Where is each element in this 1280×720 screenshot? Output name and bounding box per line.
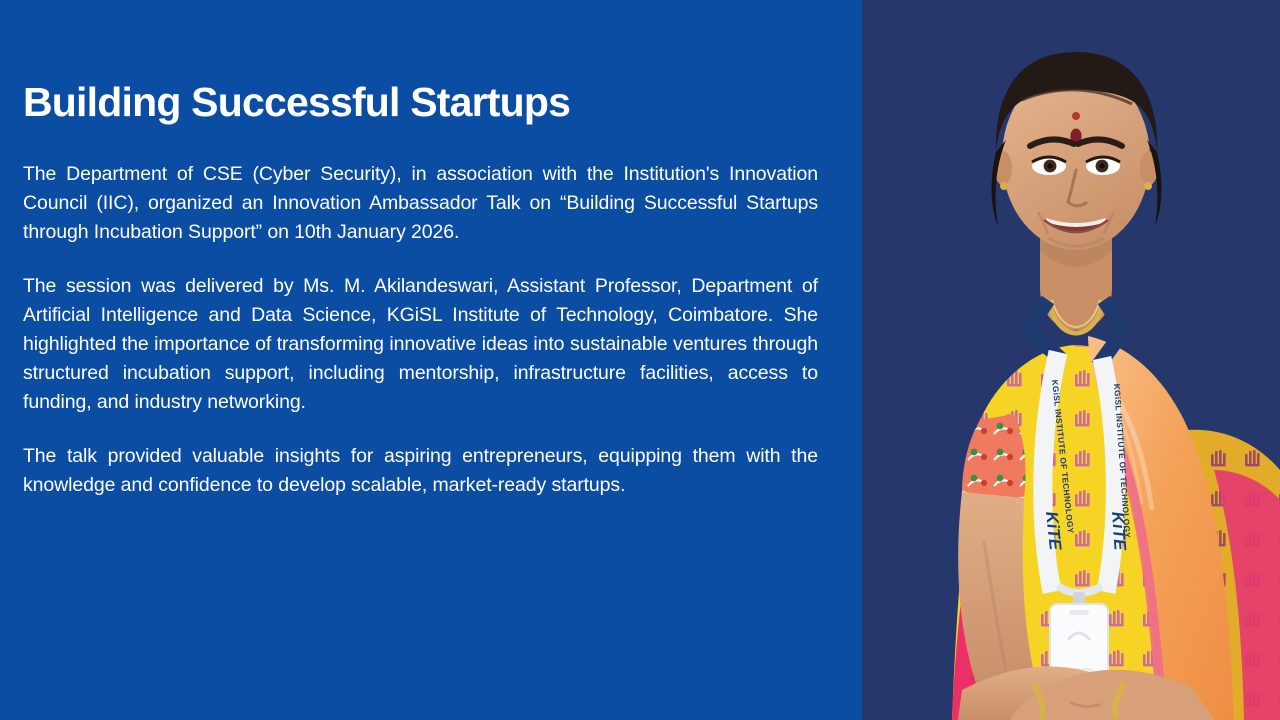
body-paragraph-3: The talk provided valuable insights for … [23, 442, 818, 500]
slide-root: Building Successful Startups The Departm… [0, 0, 1280, 720]
kumkum-dot [1072, 112, 1080, 120]
portrait-illustration: KGiSL INSTITUTE OF TECHNOLOGY KGiSL INST… [862, 0, 1280, 720]
earring-left [1000, 182, 1008, 190]
lanyard-logo-right: KiTE [1108, 511, 1130, 552]
body-paragraph-1: The Department of CSE (Cyber Security), … [23, 160, 818, 247]
text-column: Building Successful Startups The Departm… [23, 80, 818, 500]
earring-right [1144, 182, 1152, 190]
speaker-portrait: KGiSL INSTITUTE OF TECHNOLOGY KGiSL INST… [862, 0, 1280, 720]
body-paragraph-2: The session was delivered by Ms. M. Akil… [23, 272, 818, 417]
page-title: Building Successful Startups [23, 80, 818, 126]
